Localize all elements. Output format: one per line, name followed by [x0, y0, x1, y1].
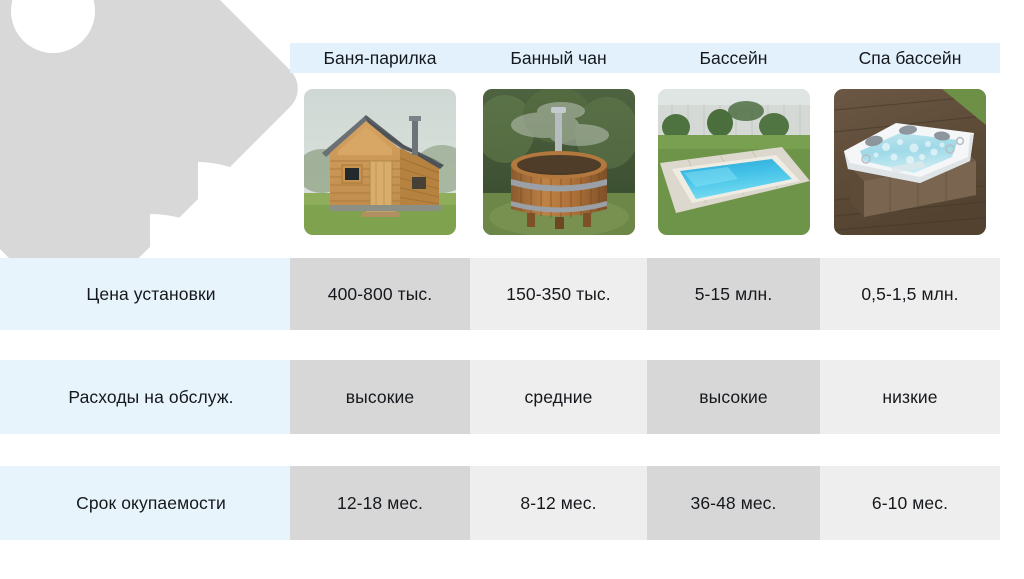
table-row: Расходы на обслуж. высокие средние высок… — [0, 360, 1024, 434]
image-slot-0 — [290, 88, 470, 236]
table-row: Цена установки 400-800 тыс. 150-350 тыс.… — [0, 258, 1024, 330]
wooden-hot-tub-photo — [483, 89, 635, 235]
column-header-1: Банный чан — [470, 43, 647, 73]
spa-jacuzzi-photo — [834, 89, 986, 235]
table-header-row: Баня-парилка Банный чан Бассейн Спа басс… — [0, 43, 1024, 73]
cell-value: 12-18 мес. — [290, 466, 470, 540]
column-header-label: Спа бассейн — [859, 48, 962, 69]
cell-value: 36-48 мес. — [647, 466, 820, 540]
cell-value: 6-10 мес. — [820, 466, 1000, 540]
row-label: Срок окупаемости — [0, 466, 290, 540]
column-header-label: Бассейн — [700, 48, 768, 69]
cell-value: высокие — [290, 360, 470, 434]
cell-value: 400-800 тыс. — [290, 258, 470, 330]
header-corner-spacer — [0, 43, 290, 73]
cell-value: 0,5-1,5 млн. — [820, 258, 1000, 330]
image-slot-1 — [470, 88, 647, 236]
column-header-0: Баня-парилка — [290, 43, 470, 73]
cell-value: средние — [470, 360, 647, 434]
table-image-row — [0, 88, 1024, 236]
cell-value: 5-15 млн. — [647, 258, 820, 330]
log-sauna-cabin-photo — [304, 89, 456, 235]
column-header-label: Банный чан — [510, 48, 606, 69]
cell-value: низкие — [820, 360, 1000, 434]
image-row-spacer — [0, 88, 290, 236]
cell-value: 150-350 тыс. — [470, 258, 647, 330]
cell-value: 8-12 мес. — [470, 466, 647, 540]
column-header-3: Спа бассейн — [820, 43, 1000, 73]
swimming-pool-photo — [658, 89, 810, 235]
row-label: Цена установки — [0, 258, 290, 330]
comparison-table: Баня-парилка Банный чан Бассейн Спа басс… — [0, 0, 1024, 579]
image-slot-2 — [647, 88, 820, 236]
image-slot-3 — [820, 88, 1000, 236]
table-row: Срок окупаемости 12-18 мес. 8-12 мес. 36… — [0, 466, 1024, 540]
row-label: Расходы на обслуж. — [0, 360, 290, 434]
column-header-2: Бассейн — [647, 43, 820, 73]
cell-value: высокие — [647, 360, 820, 434]
column-header-label: Баня-парилка — [324, 48, 437, 69]
